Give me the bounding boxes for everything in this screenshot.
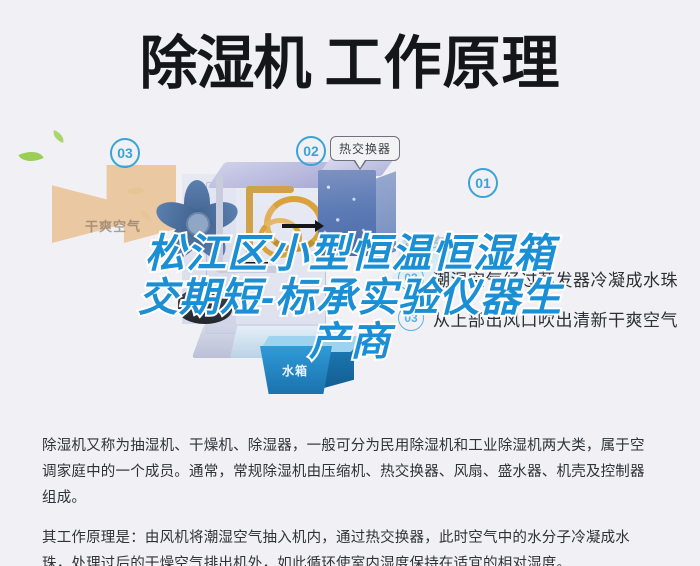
refrigerant-pipes	[212, 174, 322, 294]
paragraph-2: 其工作原理是：由风机将潮湿空气抽入机内，通过热交换器，此时空气中的水分子冷凝成水…	[42, 525, 658, 566]
legend-text: 潮湿空气经过蒸发器冷凝成水珠	[433, 266, 678, 291]
heat-exchanger-callout: 热交换器	[330, 136, 400, 161]
fan-hub	[186, 212, 210, 236]
page-title: 除湿机工作原理	[0, 32, 700, 96]
badge-02: 02	[296, 136, 326, 166]
legend-row: 03 从上部出风口吹出清新干爽空气	[398, 298, 698, 338]
legend-list: 02 潮湿空气经过蒸发器冷凝成水珠 03 从上部出风口吹出清新干爽空气	[398, 258, 698, 338]
evaporator-block	[318, 158, 402, 262]
legend-text: 从上部出风口吹出清新干爽空气	[433, 306, 678, 331]
humid-air-label: 潮湿空气	[404, 232, 460, 251]
evaporator-face-with-droplets	[318, 170, 376, 256]
airflow-arrow-icon	[246, 262, 268, 265]
compressor-icon	[178, 288, 232, 324]
dehumidifier-machine: 水箱	[150, 138, 370, 378]
water-tank-label: 水箱	[282, 362, 308, 379]
legend-row: 02 潮湿空气经过蒸发器冷凝成水珠	[398, 258, 698, 298]
badge-03: 03	[110, 138, 140, 168]
leaf-icon	[51, 130, 66, 143]
body-text-block: 除湿机又称为抽湿机、干燥机、除湿器，一般可分为民用除湿机和工业除湿机两大类，属于…	[42, 418, 658, 566]
dry-air-label: 干爽空气	[85, 216, 141, 235]
badge-01: 01	[468, 168, 498, 198]
legend-number: 03	[398, 305, 424, 331]
water-tank: 水箱	[260, 336, 370, 400]
page-title-part1: 除湿机	[139, 31, 310, 96]
airflow-arrow-icon	[282, 224, 316, 228]
page-title-part2: 工作原理	[325, 31, 561, 96]
leaf-icon	[18, 146, 43, 167]
page-root: 除湿机工作原理 干爽空气	[0, 0, 700, 566]
dehumidifier-diagram: 干爽空气	[0, 120, 700, 390]
paragraph-1: 除湿机又称为抽湿机、干燥机、除湿器，一般可分为民用除湿机和工业除湿机两大类，属于…	[42, 433, 658, 511]
legend-number: 02	[398, 265, 424, 291]
